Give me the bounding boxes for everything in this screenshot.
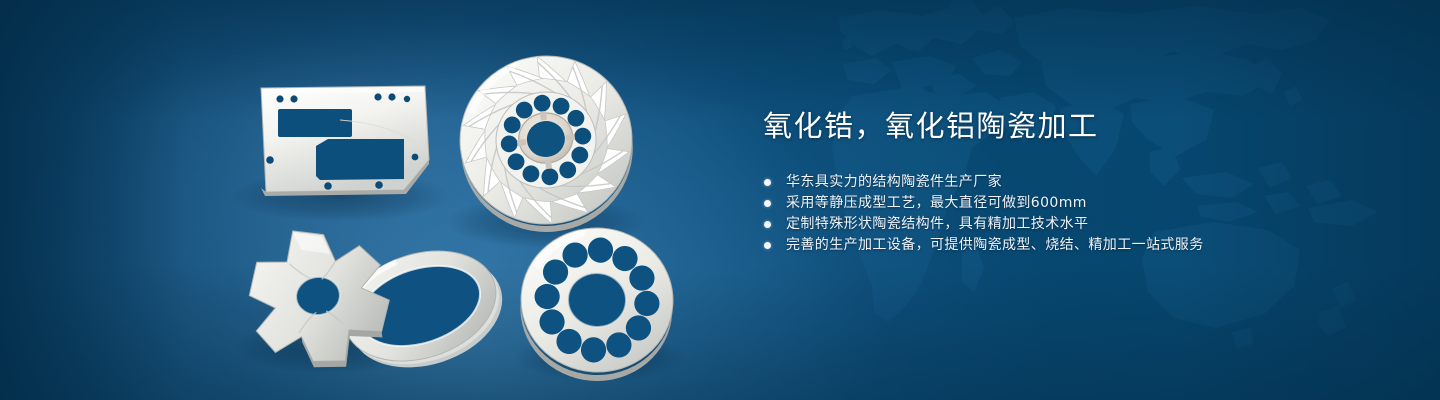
list-item: 华东具实力的结构陶瓷件生产厂家 bbox=[763, 172, 1383, 193]
page-title: 氧化锆，氧化铝陶瓷加工 bbox=[763, 108, 1383, 146]
bullet-dot-icon bbox=[764, 200, 771, 207]
list-item-label: 完善的生产加工设备，可提供陶瓷成型、烧结、精加工一站式服务 bbox=[786, 237, 1204, 253]
bullet-dot-icon bbox=[764, 242, 771, 249]
machined-ceramic-plate bbox=[261, 86, 429, 196]
list-item-label: 定制特殊形状陶瓷结构件，具有精加工技术水平 bbox=[786, 216, 1088, 232]
list-item-label: 采用等静压成型工艺，最大直径可做到600mm bbox=[786, 195, 1087, 211]
list-item: 定制特殊形状陶瓷结构件，具有精加工技术水平 bbox=[763, 214, 1383, 235]
hero-banner: 氧化锆，氧化铝陶瓷加工 华东具实力的结构陶瓷件生产厂家 采用等静压成型工艺，最大… bbox=[0, 0, 1440, 400]
bullet-dot-icon bbox=[764, 179, 771, 186]
feature-list: 华东具实力的结构陶瓷件生产厂家 采用等静压成型工艺，最大直径可做到600mm 定… bbox=[763, 172, 1383, 256]
list-item: 采用等静压成型工艺，最大直径可做到600mm bbox=[763, 193, 1383, 214]
list-item: 完善的生产加工设备，可提供陶瓷成型、烧结、精加工一站式服务 bbox=[763, 235, 1383, 256]
list-item-label: 华东具实力的结构陶瓷件生产厂家 bbox=[786, 174, 1002, 190]
bullet-dot-icon bbox=[764, 221, 771, 228]
banner-copy: 氧化锆，氧化铝陶瓷加工 华东具实力的结构陶瓷件生产厂家 采用等静压成型工艺，最大… bbox=[763, 108, 1383, 256]
